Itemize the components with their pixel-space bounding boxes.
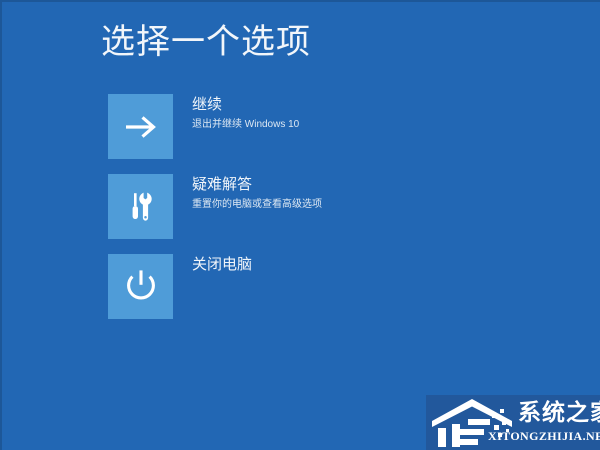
watermark: 系统之家 XITONGZHIJIA.NET bbox=[426, 395, 600, 450]
screwdriver-wrench-icon bbox=[123, 189, 159, 225]
watermark-name-cn: 系统之家 bbox=[518, 402, 600, 425]
recovery-options-screen: 选择一个选项 继续 退出并继续 Windows 10 bbox=[0, 0, 600, 450]
option-troubleshoot-title: 疑难解答 bbox=[192, 175, 322, 195]
option-power-off[interactable]: 关闭电脑 bbox=[108, 254, 528, 319]
option-power-off-tile[interactable] bbox=[108, 254, 173, 319]
option-troubleshoot-subtitle: 重置你的电脑或查看高级选项 bbox=[192, 197, 322, 212]
option-troubleshoot-tile[interactable] bbox=[108, 174, 173, 239]
option-troubleshoot[interactable]: 疑难解答 重置你的电脑或查看高级选项 bbox=[108, 174, 528, 239]
option-power-off-title: 关闭电脑 bbox=[192, 255, 252, 275]
option-continue-subtitle: 退出并继续 Windows 10 bbox=[192, 117, 299, 132]
option-continue-tile[interactable] bbox=[108, 94, 173, 159]
option-continue-title: 继续 bbox=[192, 95, 299, 115]
option-troubleshoot-text: 疑难解答 重置你的电脑或查看高级选项 bbox=[192, 174, 322, 212]
watermark-inner: 系统之家 XITONGZHIJIA.NET bbox=[426, 395, 600, 450]
power-icon bbox=[121, 267, 161, 307]
option-continue-text: 继续 退出并继续 Windows 10 bbox=[192, 94, 299, 132]
watermark-name-en: XITONGZHIJIA.NET bbox=[488, 430, 600, 442]
option-continue[interactable]: 继续 退出并继续 Windows 10 bbox=[108, 94, 528, 159]
page-title: 选择一个选项 bbox=[101, 21, 311, 64]
option-power-off-text: 关闭电脑 bbox=[192, 254, 252, 275]
arrow-right-icon bbox=[122, 108, 160, 146]
options-list: 继续 退出并继续 Windows 10 疑难解答 重置你的电脑或查看高级选项 bbox=[108, 94, 528, 334]
